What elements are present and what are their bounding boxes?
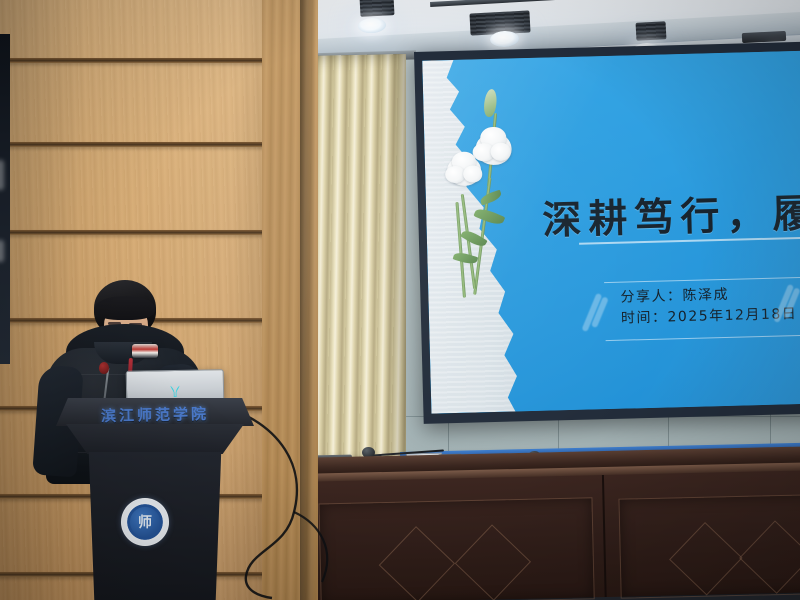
jacket-chest-logo-icon [132, 344, 158, 358]
laptop-logo-icon [167, 383, 183, 399]
ceiling-speaker-icon [359, 0, 394, 17]
slide-date-line: 时间：2025年12月18日 [621, 303, 800, 329]
slide-subtitle-block: 分享人：陈泽成 时间：2025年12月18日 [620, 282, 800, 329]
screen-surface: 深耕笃行，履践致 分享人：陈泽成 时间：2025年12月18日 [422, 50, 800, 413]
presenter-fringe [95, 296, 155, 320]
head-table-front [296, 470, 800, 600]
projection-screen[interactable]: 深耕笃行，履践致 分享人：陈泽成 时间：2025年12月18日 [414, 41, 800, 423]
presentation-slide: 深耕笃行，履践致 分享人：陈泽成 时间：2025年12月18日 [422, 50, 800, 413]
podium-name-plate: 滨江师范学院 [58, 402, 252, 427]
podium-neck [66, 424, 244, 454]
subtitle-rule-bottom [606, 334, 800, 341]
slide-title: 深耕笃行，履践致 [542, 181, 800, 246]
university-emblem-icon: 师 [121, 498, 169, 546]
podium-microphone-icon [99, 362, 109, 374]
emblem-mark: 师 [138, 512, 152, 532]
presentation-photo-scene: 深耕笃行，履践致 分享人：陈泽成 时间：2025年12月18日 [0, 0, 800, 600]
left-dark-panel [0, 34, 10, 364]
ceiling-spotlight-icon [636, 21, 667, 41]
subtitle-rule-top [604, 276, 800, 283]
